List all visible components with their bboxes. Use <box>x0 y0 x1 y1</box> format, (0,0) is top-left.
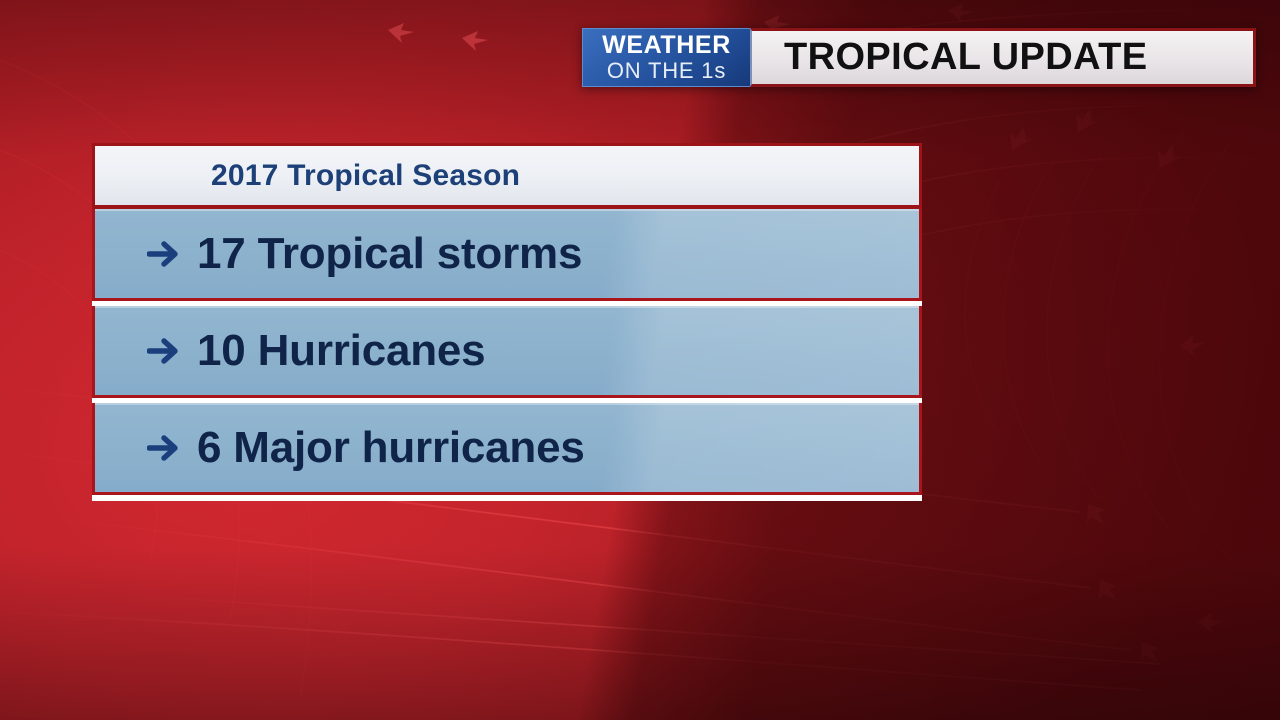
weather-on-the-1s-logo[interactable]: WEATHER ON THE 1s <box>582 28 750 87</box>
arrow-right-icon <box>147 336 191 366</box>
panel-bottom-edge <box>92 495 922 501</box>
table-row: 17 Tropical storms <box>92 209 922 301</box>
row-label-major-hurricanes: 6 Major hurricanes <box>197 423 585 473</box>
logo-line-weather: WEATHER <box>602 33 731 58</box>
page-title: TROPICAL UPDATE <box>784 36 1148 79</box>
arrow-right-icon <box>147 433 191 463</box>
weather-graphic-screen: WEATHER ON THE 1s TROPICAL UPDATE 2017 T… <box>0 0 1280 720</box>
row-label-hurricanes: 10 Hurricanes <box>197 326 485 376</box>
arrow-right-icon <box>147 239 191 269</box>
tropical-season-panel: 2017 Tropical Season 17 Tropical storms … <box>92 143 922 501</box>
table-row: 10 Hurricanes <box>92 306 922 398</box>
logo-line-on-the-1s: ON THE 1s <box>607 60 726 82</box>
row-label-tropical-storms: 17 Tropical storms <box>197 229 582 279</box>
header-band: WEATHER ON THE 1s TROPICAL UPDATE <box>582 28 1256 87</box>
header-title-bar: TROPICAL UPDATE <box>750 28 1256 87</box>
table-row: 6 Major hurricanes <box>92 403 922 495</box>
panel-header-title: 2017 Tropical Season <box>211 159 520 193</box>
panel-header: 2017 Tropical Season <box>92 143 922 209</box>
